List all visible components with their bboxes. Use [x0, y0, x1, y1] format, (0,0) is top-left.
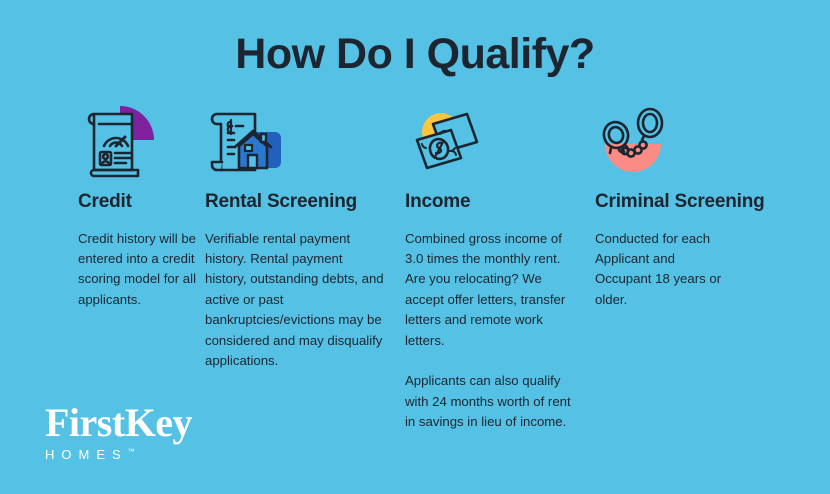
criteria-columns: Credit Credit history will be entered in…: [0, 100, 830, 433]
column-heading-criminal-screening: Criminal Screening: [595, 192, 810, 213]
logo-wordmark: FirstKey: [45, 403, 192, 443]
column-body-income: Combined gross income of 3.0 times the m…: [405, 229, 580, 433]
credit-report-gauge-icon: [78, 100, 164, 186]
criteria-column-criminal-screening: Criminal Screening Conducted for each Ap…: [595, 100, 810, 310]
qualify-infographic: How Do I Qualify?: [0, 0, 830, 494]
handcuffs-icon: [595, 100, 681, 186]
paragraph: Credit history will be entered into a cr…: [78, 229, 210, 311]
paragraph: Conducted for each Applicant and Occupan…: [595, 229, 735, 311]
paragraph: Combined gross income of 3.0 times the m…: [405, 229, 580, 352]
column-body-credit: Credit history will be entered into a cr…: [78, 229, 210, 311]
criteria-column-rental-screening: Rental Screening Verifiable rental payme…: [205, 100, 405, 372]
column-heading-credit: Credit: [78, 192, 205, 213]
firstkey-homes-logo: FirstKey HOMES™: [45, 403, 192, 464]
criteria-column-income: Income Combined gross income of 3.0 time…: [405, 100, 595, 433]
logo-subtitle-text: HOMES: [45, 447, 128, 462]
column-heading-rental-screening: Rental Screening: [205, 192, 405, 213]
page-title: How Do I Qualify?: [0, 30, 830, 79]
criteria-column-credit: Credit Credit history will be entered in…: [0, 100, 205, 310]
column-body-rental-screening: Verifiable rental payment history. Renta…: [205, 229, 385, 372]
paragraph: Applicants can also qualify with 24 mont…: [405, 371, 580, 432]
rental-icon-wrap: [205, 100, 405, 186]
income-icon-wrap: [405, 100, 595, 186]
logo-trademark: ™: [128, 449, 135, 456]
cash-banknotes-icon: [405, 100, 491, 186]
column-body-criminal-screening: Conducted for each Applicant and Occupan…: [595, 229, 735, 311]
credit-icon-wrap: [78, 100, 205, 186]
paragraph: Verifiable rental payment history. Renta…: [205, 229, 385, 372]
logo-subtitle: HOMES™: [45, 447, 135, 462]
column-heading-income: Income: [405, 192, 595, 213]
rental-document-house-icon: [205, 100, 291, 186]
criminal-icon-wrap: [595, 100, 810, 186]
